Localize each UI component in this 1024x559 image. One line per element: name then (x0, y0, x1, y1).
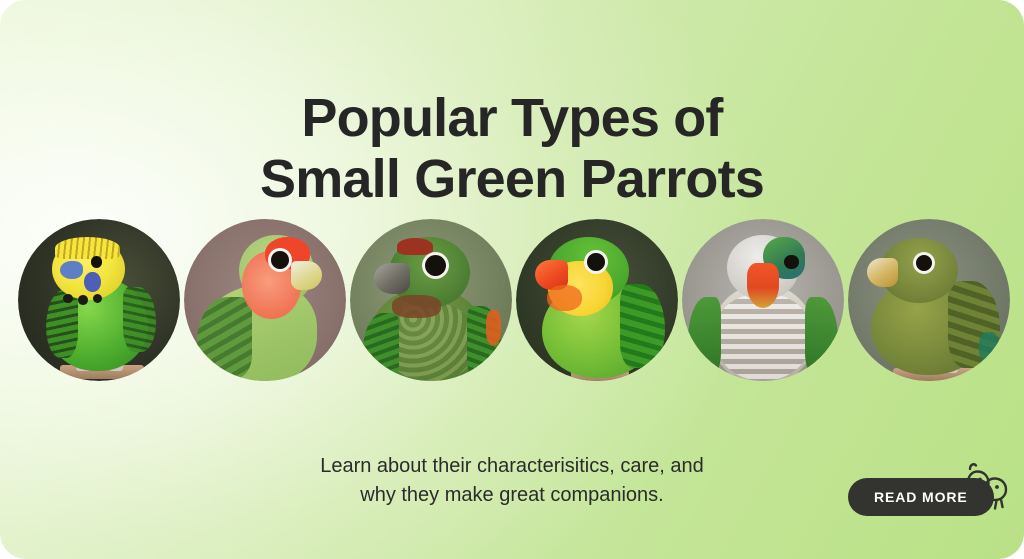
parrot-banner: Popular Types of Small Green Parrots (0, 0, 1024, 559)
bird-circle-lovebird[interactable] (184, 219, 346, 381)
page-title-line-1: Popular Types of (0, 88, 1024, 148)
quaker-photo-circle (682, 219, 844, 381)
bird-circle-quaker[interactable] (682, 219, 844, 381)
bird-gallery (18, 218, 1010, 382)
bird-circle-budgerigar[interactable] (18, 219, 180, 381)
budgie-photo-circle (18, 219, 180, 381)
cta-area: READ MORE (848, 478, 994, 516)
read-more-button[interactable]: READ MORE (848, 478, 994, 516)
bird-circle-conure[interactable] (350, 219, 512, 381)
subtitle-line-1: Learn about their characterisitics, care… (0, 452, 1024, 481)
olive-parrotlet-photo-circle (848, 219, 1010, 381)
page-title: Popular Types of Small Green Parrots (0, 88, 1024, 209)
conure-photo-circle (350, 219, 512, 381)
parrotlet-photo-circle (516, 219, 678, 381)
lovebird-photo-circle (184, 219, 346, 381)
page-title-line-2: Small Green Parrots (0, 149, 1024, 209)
bird-circle-parrotlet[interactable] (516, 219, 678, 381)
bird-circle-olive-parrotlet[interactable] (848, 219, 1010, 381)
